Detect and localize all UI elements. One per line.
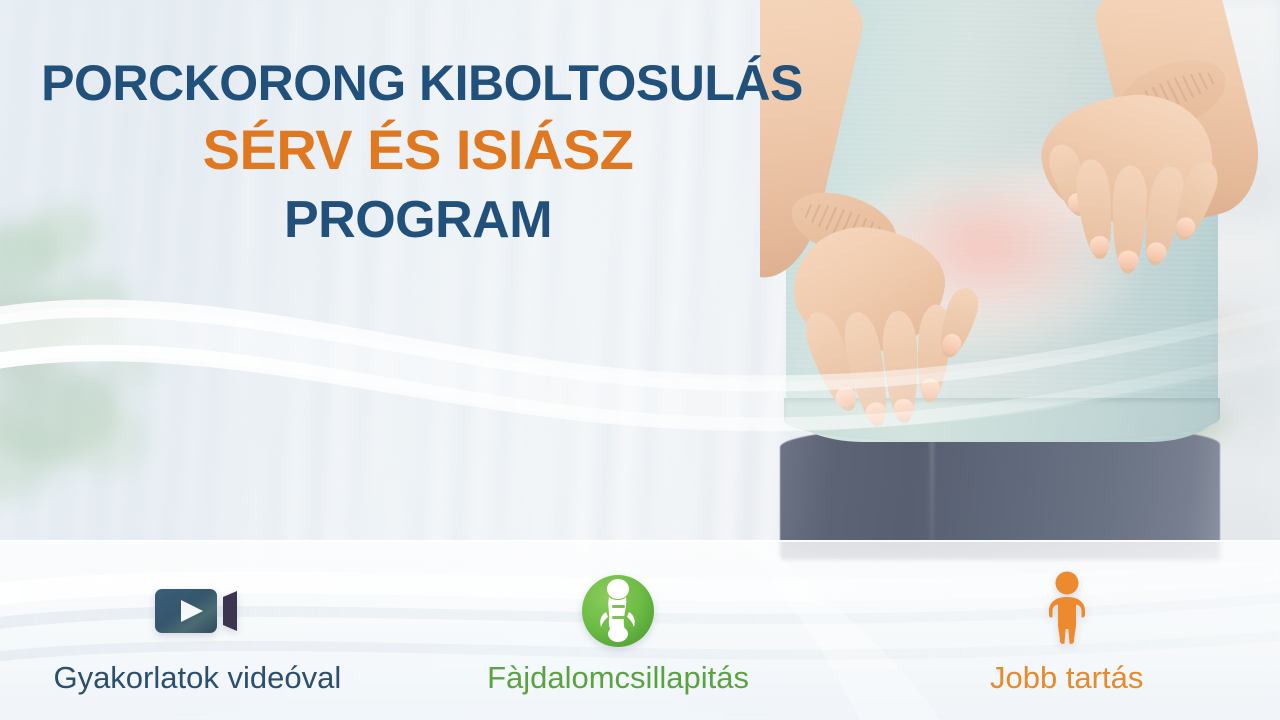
headline-line-2: SÉRV ÉS ISIÁSZ	[0, 122, 836, 178]
headline-line-3: PROGRAM	[0, 194, 836, 246]
spine-icon-wrap	[579, 572, 657, 650]
feature-item-pain-relief[interactable]: Fàjdalomcsillapitás	[405, 572, 832, 720]
feature-label-pain-relief: Fàjdalomcsillapitás	[487, 662, 749, 695]
feature-item-posture[interactable]: Jobb tartás	[853, 572, 1280, 720]
headline-block: PORCKORONG KIBOLTOSULÁS SÉRV ÉS ISIÁSZ P…	[0, 58, 836, 246]
feature-label-posture: Jobb tartás	[990, 662, 1143, 695]
banner-stage: PORCKORONG KIBOLTOSULÁS SÉRV ÉS ISIÁSZ P…	[0, 0, 1280, 720]
decorative-ribbon-waves	[0, 250, 1280, 450]
spine-vertebra-circle-icon	[579, 572, 657, 650]
feature-item-video[interactable]: Gyakorlatok videóval	[0, 572, 411, 720]
feature-label-video: Gyakorlatok videóval	[53, 662, 341, 695]
video-camera-icon	[153, 583, 241, 639]
headline-line-1: PORCKORONG KIBOLTOSULÁS	[0, 58, 836, 108]
person-icon-wrap	[1036, 572, 1098, 650]
video-camera-icon-wrap	[153, 572, 241, 650]
feature-row: Gyakorlatok videóval	[0, 572, 1280, 720]
standing-person-icon	[1036, 571, 1098, 651]
